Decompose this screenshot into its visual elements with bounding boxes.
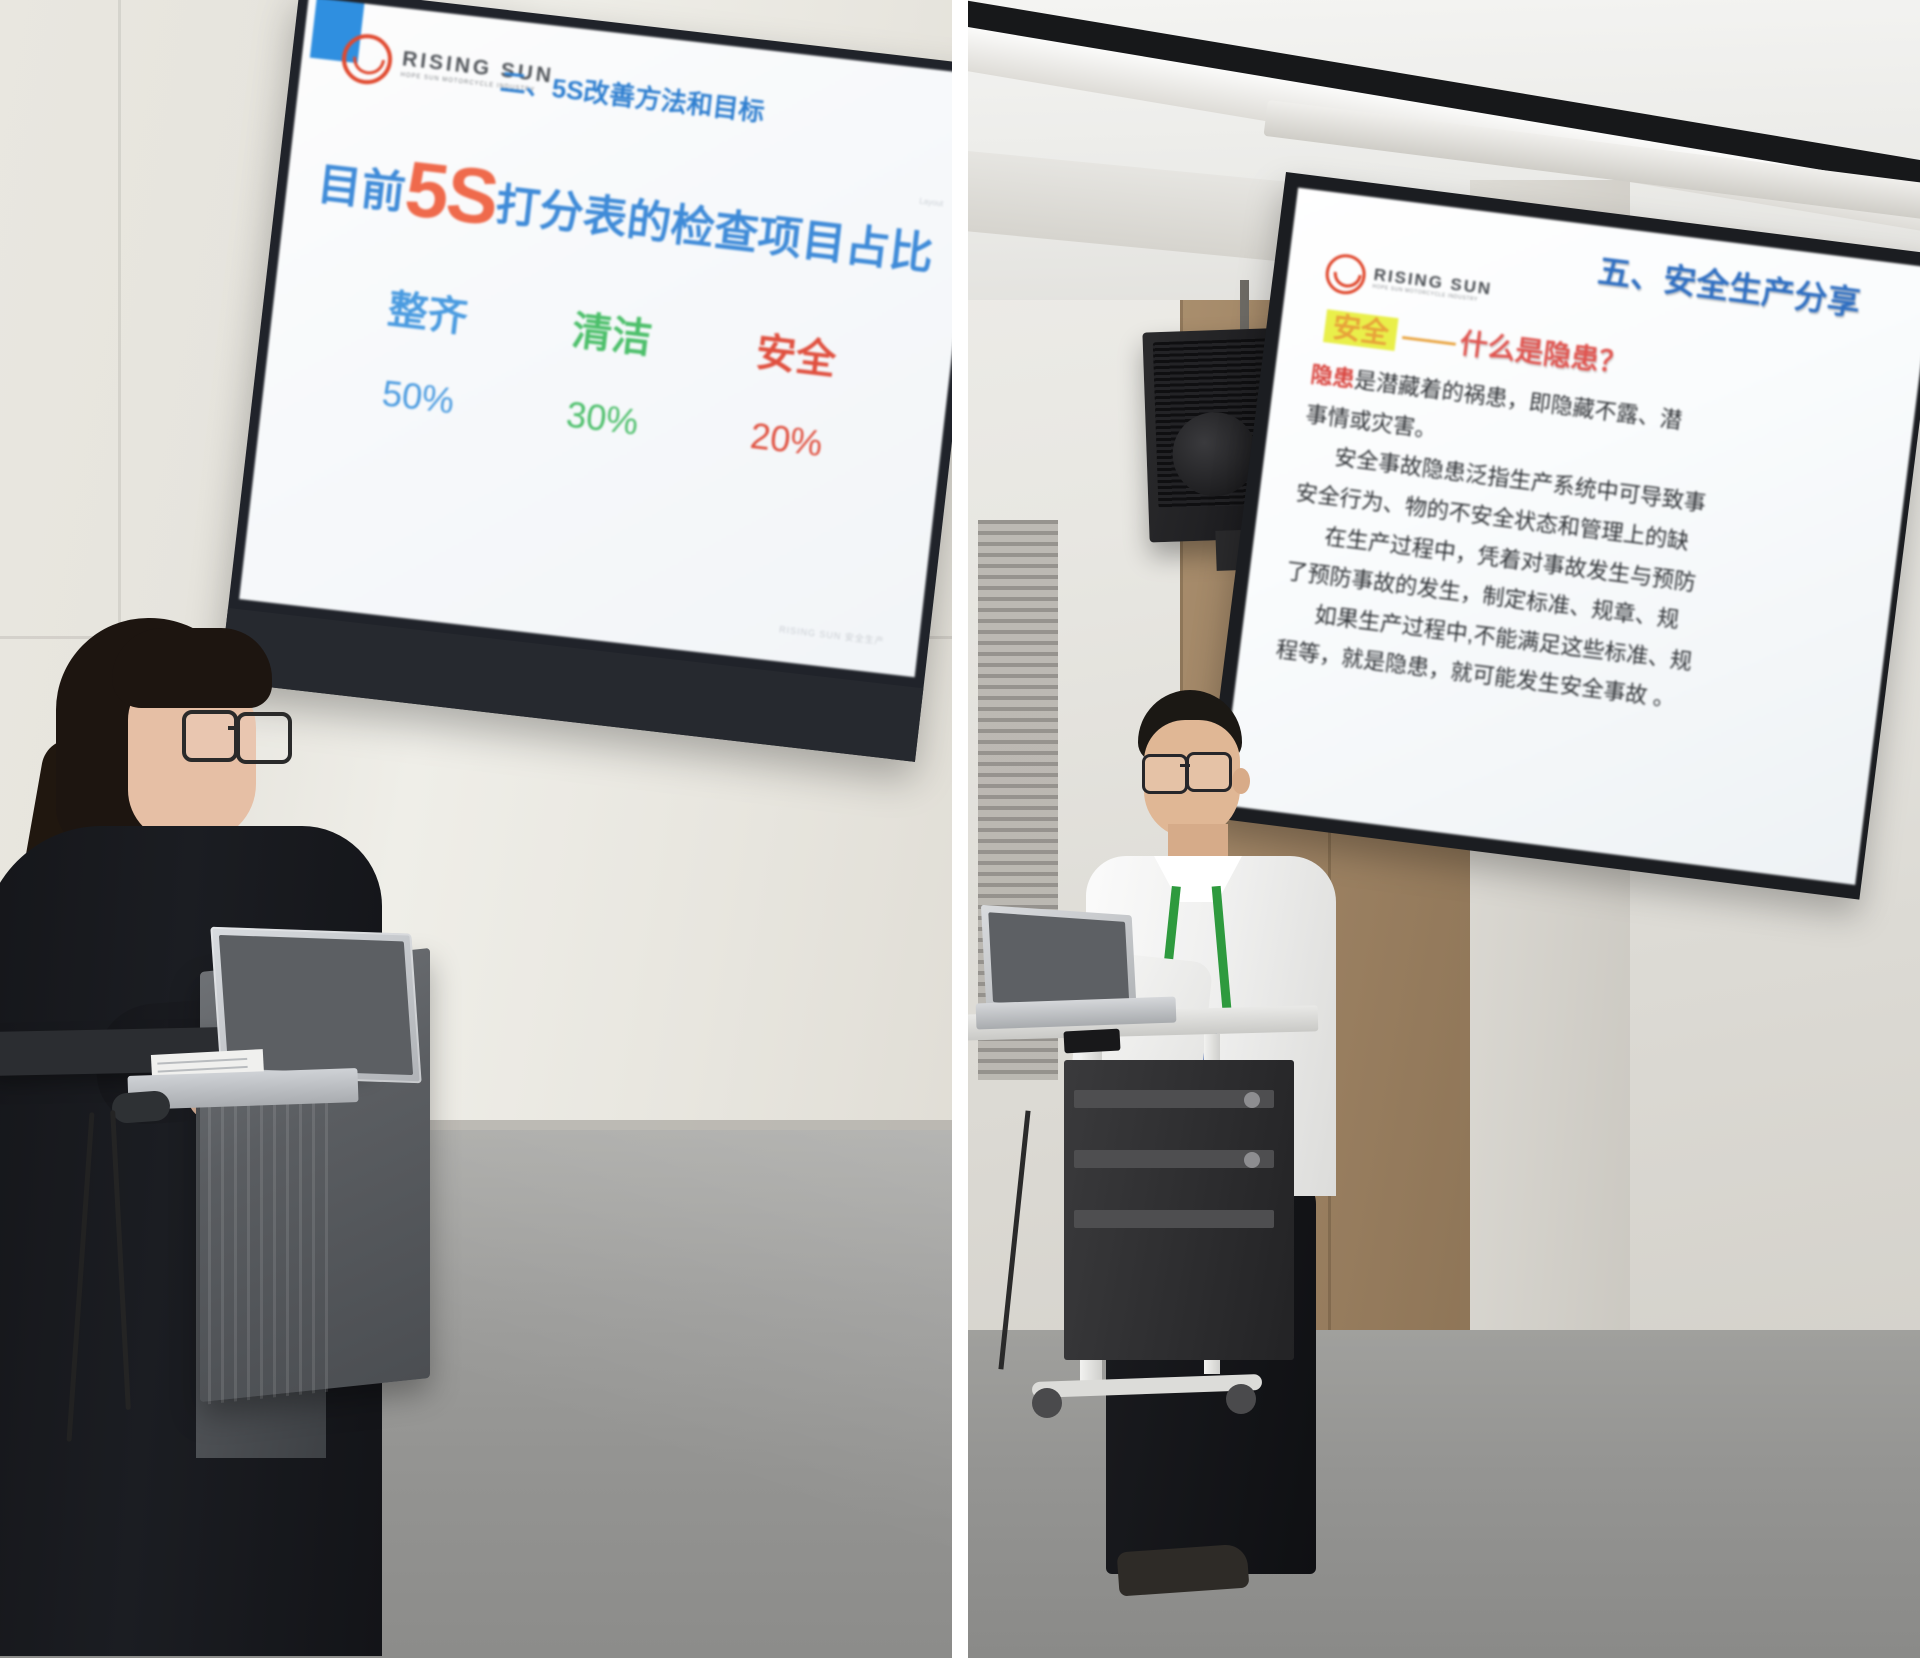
slide-title: 目前5S打分表的检查项目占比 (305, 132, 947, 295)
category-label-anquan: 安全 (753, 319, 839, 386)
category-label-zhengqi: 整齐 (385, 276, 471, 343)
photo-collage: RISING SUN HOPE SUN MOTORCYCLE INDUSTRY … (0, 0, 1920, 1658)
body-lead-term: 隐患 (1309, 362, 1356, 392)
slide-title-prefix: 目前 (315, 160, 408, 219)
slide-body-text: 隐患是潜藏着的祸患，即隐藏不露、潜 事情或灾害。 安全事故隐患泛指生产系统中可导… (1274, 357, 1899, 741)
presenter-glasses-right-lens (1186, 752, 1232, 792)
left-projection-screen: RISING SUN HOPE SUN MOTORCYCLE INDUSTRY … (220, 0, 952, 762)
mobile-phone (1063, 1029, 1120, 1054)
subtitle-question: 什么是隐患？ (1458, 327, 1629, 379)
category-value-zhengqi: 50% (380, 372, 456, 422)
rising-sun-circle-mark-icon (1323, 252, 1368, 297)
subtitle-highlight: 安全 (1323, 309, 1399, 351)
presenter-glasses-right-lens (236, 712, 292, 764)
right-projection-screen: 五、安全生产分享 RISING SUN HOPE SUN MOTORCYCLE … (1205, 172, 1920, 900)
desk-laptop-screen (988, 912, 1129, 1011)
presenter-ear (1232, 768, 1250, 794)
slide-title-accent: 5S (401, 144, 502, 242)
slide-watermark: RISING SUN 安全生产 (779, 622, 886, 647)
podium-vent-slats (208, 1092, 328, 1405)
right-slide-content: 五、安全生产分享 RISING SUN HOPE SUN MOTORCYCLE … (1220, 188, 1920, 885)
equipment-rack (1064, 1060, 1294, 1360)
presenter-shoe (1117, 1544, 1250, 1597)
body-line-text: 事情或灾害。 (1304, 401, 1438, 442)
left-photo-panel: RISING SUN HOPE SUN MOTORCYCLE INDUSTRY … (0, 0, 952, 1658)
desk-caster (1226, 1384, 1256, 1414)
subtitle-dash: —— (1401, 320, 1456, 357)
presenter-glasses-left-lens (182, 710, 238, 762)
computer-mouse (111, 1090, 171, 1124)
presenter-glasses-bridge (228, 726, 240, 730)
collage-divider (952, 0, 968, 1658)
left-slide-content: RISING SUN HOPE SUN MOTORCYCLE INDUSTRY … (239, 0, 952, 677)
presenter-fringe (112, 628, 272, 708)
category-label-qingjie: 清洁 (569, 298, 655, 365)
desk-caster (1032, 1388, 1062, 1418)
category-value-qingjie: 30% (564, 394, 640, 444)
slide-title-suffix: 打分表的检查项目占比 (493, 180, 936, 279)
right-photo-panel: 五、安全生产分享 RISING SUN HOPE SUN MOTORCYCLE … (968, 0, 1920, 1658)
right-slide-surface: 五、安全生产分享 RISING SUN HOPE SUN MOTORCYCLE … (1220, 188, 1920, 885)
floor-light-reflection (430, 1130, 952, 1658)
presenter-glasses-left-lens (1142, 754, 1188, 794)
category-value-anquan: 20% (748, 415, 824, 465)
left-slide-surface: RISING SUN HOPE SUN MOTORCYCLE INDUSTRY … (239, 0, 952, 677)
rising-sun-circle-mark-icon (339, 31, 394, 86)
wall-seam (118, 0, 121, 640)
presenter-glasses-bridge (1180, 764, 1190, 767)
